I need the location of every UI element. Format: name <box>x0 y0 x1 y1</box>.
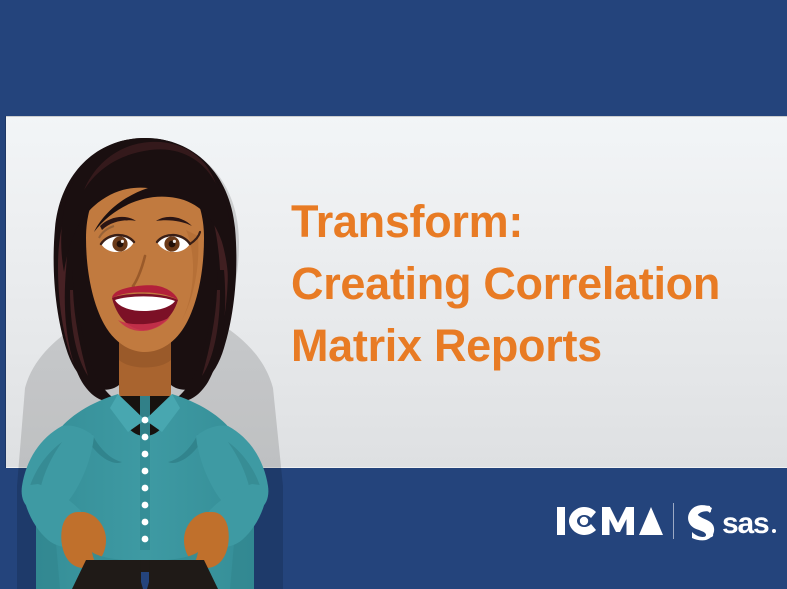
logo-divider <box>673 503 674 539</box>
title-line-3: Matrix Reports <box>291 315 761 377</box>
shirt-button <box>142 417 149 424</box>
shirt-button <box>142 468 149 475</box>
logo-bar: sas <box>556 500 776 544</box>
top-color-band <box>0 0 787 116</box>
shirt-button <box>142 519 149 526</box>
panel-top-edge <box>6 116 787 117</box>
sas-period <box>772 529 776 533</box>
sas-s-mark <box>688 505 714 540</box>
icma-logo <box>556 503 664 539</box>
icma-c-dot <box>580 517 588 525</box>
shirt-button <box>142 536 149 543</box>
sas-logo: sas <box>686 501 778 541</box>
sas-wordmark-text: sas <box>722 507 769 540</box>
presenter-avatar-illustration <box>0 120 290 589</box>
slide-title: Transform: Creating Correlation Matrix R… <box>291 191 761 377</box>
slide-canvas: Transform: Creating Correlation Matrix R… <box>0 0 787 589</box>
title-line-2: Creating Correlation <box>291 253 761 315</box>
icma-m <box>602 507 634 535</box>
title-line-1: Transform: <box>291 191 761 253</box>
icma-a <box>639 507 663 535</box>
pants-lower <box>0 560 290 589</box>
shirt-button <box>142 502 149 509</box>
shirt-button <box>142 485 149 492</box>
shirt-button <box>142 434 149 441</box>
shirt-button <box>142 451 149 458</box>
